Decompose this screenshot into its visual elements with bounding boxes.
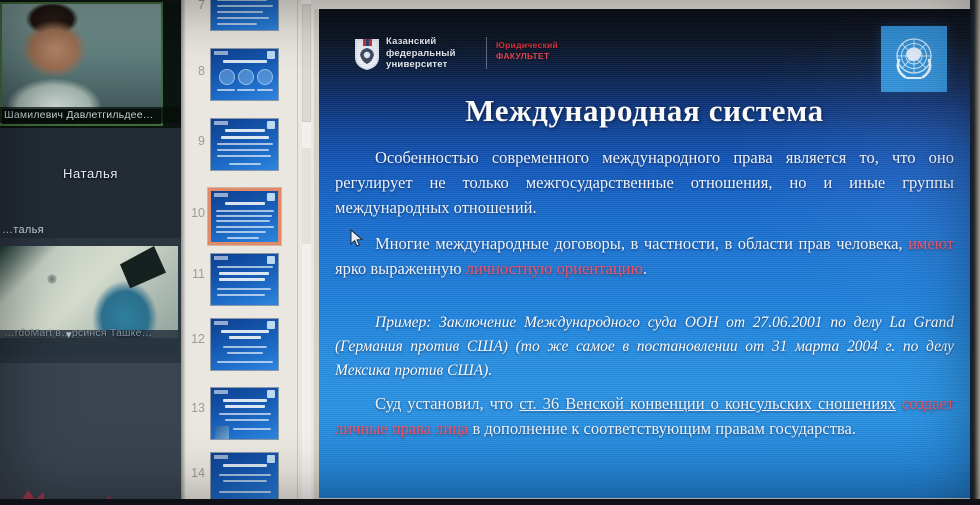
thumb-header [214,121,228,125]
thumb-un-emblem [267,321,275,329]
paragraph-3-text: Пример: Заключение Международного суда О… [335,314,954,379]
participant-name-1: Шамилевич Давлетгильдее… [0,107,181,123]
paragraph-2-part-3: . [643,259,647,278]
thumb-header [214,321,228,325]
slide-thumbnail-rail[interactable]: 7 8 [181,0,314,505]
thumb-number: 10 [183,206,205,220]
participant-tile-2[interactable]: Наталья …талья [0,128,181,238]
thumb-header [214,51,228,55]
rail-divider [297,0,298,505]
participant-name-3: …rdoMart в…рсинся Ташке… [0,325,181,341]
slide-title: Международная система [319,93,970,129]
slide-thumbnail-selected[interactable] [208,188,281,245]
photographed-screen: Шамилевич Давлетгильдее… Наталья …талья … [0,0,980,505]
slide-thumbnail[interactable] [210,318,279,371]
kfu-name: Казанский федеральный университет [386,36,456,71]
thumb-header [214,455,228,459]
un-emblem-icon [881,26,947,92]
thumb-header [214,390,228,394]
slide-thumbnail[interactable] [210,118,279,171]
faculty-name: Юридический ФАКУЛЬТЕТ [496,40,558,61]
thumb-number: 12 [183,332,205,346]
paragraph-4-underlined: ст. 36 Венской конвенции о консульских с… [519,394,896,413]
tile-side-letterbox [163,3,181,109]
paragraph-2-part-1: Многие международные договоры, в частнос… [375,234,908,253]
thumb-un-emblem [267,121,275,129]
thumb-un-emblem [267,193,275,201]
thumb-number: 9 [183,134,205,148]
slide-paragraph-3-example: Пример: Заключение Международного суда О… [335,311,954,383]
thumb-un-emblem [267,390,275,398]
participant-name-2-bottom: …талья [2,224,44,236]
thumb-number: 13 [183,401,205,415]
thumbnail-scrollbar-handle-lower[interactable] [302,148,311,244]
thumb-number: 7 [183,0,205,12]
chevron-down-icon[interactable]: ▾ [66,328,72,341]
slide-thumbnail[interactable] [210,387,279,440]
slide-stage: Казанский федеральный университет Юридич… [314,0,980,505]
thumb-un-emblem [267,455,275,463]
kfu-logo: Казанский федеральный университет Юридич… [354,35,544,75]
paragraph-2-highlight-1: имеют [908,234,954,253]
thumb-un-emblem [267,256,275,264]
current-slide[interactable]: Казанский федеральный университет Юридич… [319,9,970,498]
thumb-header [214,193,228,197]
slide-paragraph-4: Суд установил, что ст. 36 Венской конвен… [335,391,954,441]
slide-thumbnail[interactable] [210,253,279,306]
monitor-bezel-right [970,0,980,505]
slide-stage-top-margin [314,0,980,9]
thumb-number: 11 [183,267,205,281]
participant-tile-1[interactable]: Шамилевич Давлетгильдее… [0,0,181,128]
slide-thumbnail[interactable] [210,0,279,31]
slide-paragraph-1: Особенностью современного международного… [335,145,954,220]
mouse-pointer [350,229,364,247]
paragraph-4-part-1: Суд установил, что [375,394,519,413]
video-conference-panel: Шамилевич Давлетгильдее… Наталья …талья … [0,0,181,505]
paragraph-4-part-2: в дополнение к соответствующим правам го… [468,419,856,438]
slide-thumbnail[interactable] [210,452,279,505]
paragraph-1-text: Особенностью современного международного… [335,148,954,217]
brand-divider [486,37,487,69]
thumb-header [214,256,228,260]
thumb-number: 8 [183,64,205,78]
participant-tile-4[interactable] [0,363,181,505]
thumb-number: 14 [183,466,205,480]
paragraph-2-part-2: ярко выраженную [335,259,466,278]
slide-paragraph-2: Многие международные договоры, в частнос… [335,231,954,281]
thumbnail-scrollbar-handle[interactable] [302,4,311,122]
participant-tile-3[interactable]: …rdoMart в…рсинся Ташке… ▾ [0,238,181,363]
paragraph-2-highlight-2: личностную ориентацию [466,259,643,278]
thumb-un-emblem [267,51,275,59]
kfu-shield-icon [354,37,380,71]
participant-name-2: Наталья [0,166,181,181]
bottom-bezel [0,499,980,505]
slide-thumbnail[interactable] [210,48,279,101]
